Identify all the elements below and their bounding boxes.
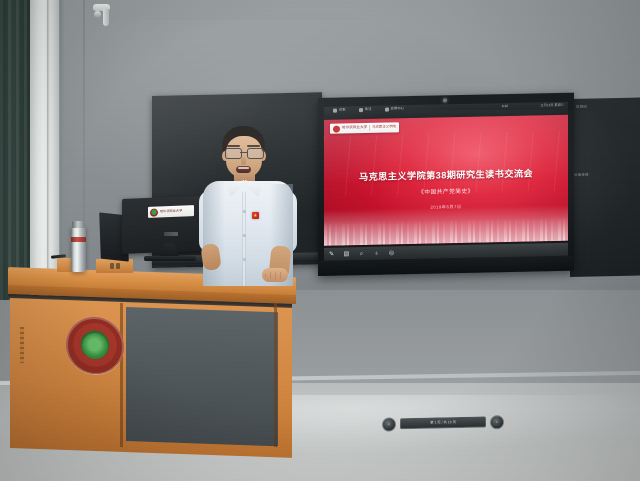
wall-bracket-icon (93, 4, 110, 26)
university-emblem-icon (150, 208, 158, 216)
whiteboard-icon (333, 109, 337, 113)
brand-secondary-text: 马克思主义学院 (372, 126, 396, 130)
annotation-tool-group[interactable]: ✎ ▧ ⌕ ♁ ◎ (327, 248, 396, 258)
shirt-button-1 (243, 210, 246, 213)
camera-icon (443, 98, 447, 102)
settings-icon[interactable]: ◎ (387, 248, 396, 257)
thermos-cap (72, 221, 85, 228)
interactive-display[interactable]: 白板 批注 应用中心 9:36 11月13日 星期三 (318, 93, 574, 276)
lectern-vent (20, 327, 24, 363)
slide-counter[interactable]: 第 1 页 / 共 16 页 (400, 416, 486, 429)
shirt-placket (242, 192, 246, 286)
crest-tree-icon (82, 333, 108, 360)
annotate-icon (359, 108, 363, 112)
lectern (8, 267, 296, 481)
slide-skyline-graphic (324, 205, 568, 246)
presenter-mouth (236, 166, 251, 173)
lectern-front-panel (126, 307, 278, 446)
shirt-button-3 (243, 258, 246, 261)
slide-counter-label: 第 1 页 / 共 16 页 (430, 421, 456, 425)
shirt-shadow-left (203, 181, 225, 286)
screenshot-root: 投屏码 设备连接 白板 批注 应用中心 (0, 0, 640, 481)
prev-slide-button[interactable]: ‹ (382, 417, 396, 431)
thermos-band (71, 237, 86, 242)
chalkboard-right: 投屏码 设备连接 (570, 98, 640, 277)
glasses-lens-left (225, 148, 242, 159)
university-emblem-icon (333, 125, 340, 132)
monitor-label-text: 哈尔滨商业大学 (160, 209, 182, 213)
status-date: 11月13日 星期三 (540, 104, 564, 108)
glasses-lens-right (247, 148, 264, 159)
monitor-brand-badge (164, 232, 178, 236)
lectern-seam-right (274, 303, 277, 447)
slide-brand-bar: 哈尔滨商业大学 马克思主义学院 (330, 122, 399, 133)
menu-item-whiteboard[interactable]: 白板 (333, 108, 346, 112)
monitor-asset-label: 哈尔滨商业大学 (148, 205, 194, 218)
menu-item-app-center[interactable]: 应用中心 (385, 107, 405, 111)
thermos-bottle (71, 225, 86, 272)
pillar-groove (47, 0, 50, 280)
slide-control-bar[interactable]: ‹ 第 1 页 / 共 16 页 › (382, 413, 504, 433)
next-slide-button[interactable]: › (490, 415, 504, 429)
display-menu-group[interactable]: 白板 批注 应用中心 (333, 107, 404, 112)
menu-label-whiteboard: 白板 (339, 109, 346, 112)
side-note-2: 设备连接 (574, 173, 589, 177)
block-marking-1 (110, 263, 114, 269)
presenter (196, 126, 302, 286)
bracket-knob (94, 11, 101, 18)
block-marking-2 (116, 263, 120, 269)
presenter-nose (241, 157, 246, 165)
side-note-1: 投屏码 (576, 105, 587, 109)
party-emblem-badge (252, 212, 259, 219)
shirt-button-2 (243, 234, 246, 237)
menu-label-annotate: 批注 (365, 108, 372, 111)
zoom-icon[interactable]: ⌕ (357, 249, 366, 258)
menu-label-app-center: 应用中心 (391, 108, 405, 111)
display-screen[interactable]: 白板 批注 应用中心 9:36 11月13日 星期三 (318, 93, 574, 276)
glasses-icon (225, 148, 263, 157)
pen-icon[interactable]: ✎ (327, 250, 336, 259)
presentation-slide[interactable]: 哈尔滨商业大学 马克思主义学院 马克思主义学院第38期研究生读书交流会 《中国共… (324, 115, 568, 246)
spotlight-icon[interactable]: ♁ (372, 249, 381, 258)
eraser-icon[interactable]: ▧ (342, 249, 351, 258)
bracket-stem (103, 9, 109, 26)
presenter-brow-right (247, 145, 260, 147)
menu-item-annotate[interactable]: 批注 (359, 108, 372, 112)
status-clock: 9:36 (502, 105, 508, 108)
lectern-seam-left (120, 303, 123, 447)
apps-icon (385, 108, 389, 112)
brand-primary-text: 哈尔滨商业大学 (342, 126, 367, 130)
glasses-bridge (240, 152, 247, 153)
presenter-hand-right (262, 268, 288, 282)
presenter-brow-left (227, 145, 240, 147)
brand-divider (369, 125, 370, 131)
window-curtain (0, 0, 33, 300)
